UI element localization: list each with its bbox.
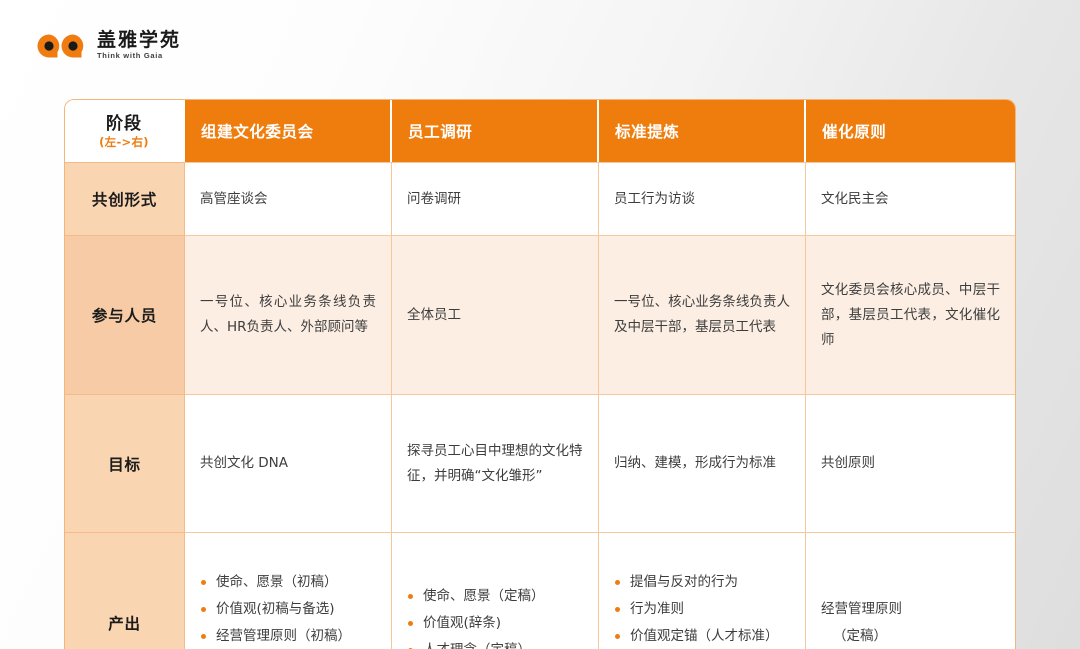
cell-3-3: 经营管理原则（定稿）	[806, 532, 1015, 649]
list-item: 提倡与反对的行为	[614, 569, 790, 596]
cell-2-2: 归纳、建模，形成行为标准	[599, 394, 806, 532]
cell-2-0: 共创文化 DNA	[185, 394, 392, 532]
header-cell-2: 标准提炼	[599, 100, 806, 162]
cell-1-1: 全体员工	[392, 235, 599, 394]
header-cell-1: 员工调研	[392, 100, 599, 162]
brand-text: 盖雅学苑 Think with Gaia	[97, 30, 181, 62]
row-label-3: 产出	[65, 532, 185, 649]
cell-0-1: 问卷调研	[392, 162, 599, 235]
cell-2-3: 共创原则	[806, 394, 1015, 532]
header-cell-0: 组建文化委员会	[185, 100, 392, 162]
slide-canvas: 盖雅学苑 Think with Gaia 阶段 (左->右) 组建	[0, 0, 1080, 649]
table-row-1: 参与人员 一号位、核心业务条线负责人、HR负责人、外部顾问等 全体员工 一号位、…	[65, 235, 1015, 394]
output-list-1: 使命、愿景（定稿）价值观(辞条)人才理念（定稿）	[407, 583, 583, 649]
cell-3-2: 提倡与反对的行为行为准则价值观定锚（人才标准）绩效评估标准	[599, 532, 806, 649]
cell-3-0: 使命、愿景（初稿）价值观(初稿与备选)经营管理原则（初稿）人才理念（初稿）	[185, 532, 392, 649]
text-line: 经营管理原则	[821, 596, 1000, 623]
list-item: 行为准则	[614, 596, 790, 623]
list-item: 使命、愿景（定稿）	[407, 583, 583, 610]
list-item: 价值观(辞条)	[407, 610, 583, 637]
table-row-3: 产出 使命、愿景（初稿）价值观(初稿与备选)经营管理原则（初稿）人才理念（初稿）…	[65, 532, 1015, 649]
brand-tagline: Think with Gaia	[97, 51, 181, 61]
cell-2-1: 探寻员工心目中理想的文化特征，并明确“文化雏形”	[392, 394, 599, 532]
brand-name: 盖雅学苑	[97, 30, 181, 50]
stage-subtitle: (左->右)	[65, 135, 183, 149]
cell-0-0: 高管座谈会	[185, 162, 392, 235]
culture-matrix-table: 阶段 (左->右) 组建文化委员会 员工调研 标准提炼 催化原则 共创形式 高管…	[65, 100, 1015, 649]
brand-logo: 盖雅学苑 Think with Gaia	[36, 30, 181, 62]
cell-0-2: 员工行为访谈	[599, 162, 806, 235]
list-item: 价值观(初稿与备选)	[200, 596, 376, 623]
cell-1-2: 一号位、核心业务条线负责人及中层干部，基层员工代表	[599, 235, 806, 394]
table-header-row: 阶段 (左->右) 组建文化委员会 员工调研 标准提炼 催化原则	[65, 100, 1015, 162]
output-list-2: 提倡与反对的行为行为准则价值观定锚（人才标准）绩效评估标准	[614, 569, 790, 649]
header-cell-stage: 阶段 (左->右)	[65, 100, 185, 162]
list-item: 价值观定锚（人才标准）	[614, 623, 790, 649]
list-item: 人才理念（定稿）	[407, 637, 583, 649]
gaia-double-circle-logo-icon	[36, 33, 88, 59]
cell-1-0: 一号位、核心业务条线负责人、HR负责人、外部顾问等	[185, 235, 392, 394]
table-row-2: 目标 共创文化 DNA 探寻员工心目中理想的文化特征，并明确“文化雏形” 归纳、…	[65, 394, 1015, 532]
output-list-0: 使命、愿景（初稿）价值观(初稿与备选)经营管理原则（初稿）人才理念（初稿）	[200, 569, 376, 649]
row-label-0: 共创形式	[65, 162, 185, 235]
header-cell-3: 催化原则	[806, 100, 1015, 162]
cell-1-3: 文化委员会核心成员、中层干部，基层员工代表，文化催化师	[806, 235, 1015, 394]
text-line: （定稿）	[821, 623, 1000, 649]
output-text-3: 经营管理原则（定稿）	[821, 596, 1000, 649]
list-item: 使命、愿景（初稿）	[200, 569, 376, 596]
row-label-1: 参与人员	[65, 235, 185, 394]
list-item: 经营管理原则（初稿）	[200, 623, 376, 649]
cell-0-3: 文化民主会	[806, 162, 1015, 235]
cell-3-1: 使命、愿景（定稿）价值观(辞条)人才理念（定稿）	[392, 532, 599, 649]
row-label-2: 目标	[65, 394, 185, 532]
stage-title: 阶段	[65, 114, 183, 135]
culture-matrix-table-wrapper: 阶段 (左->右) 组建文化委员会 员工调研 标准提炼 催化原则 共创形式 高管…	[65, 100, 1015, 649]
table-row-0: 共创形式 高管座谈会 问卷调研 员工行为访谈 文化民主会	[65, 162, 1015, 235]
